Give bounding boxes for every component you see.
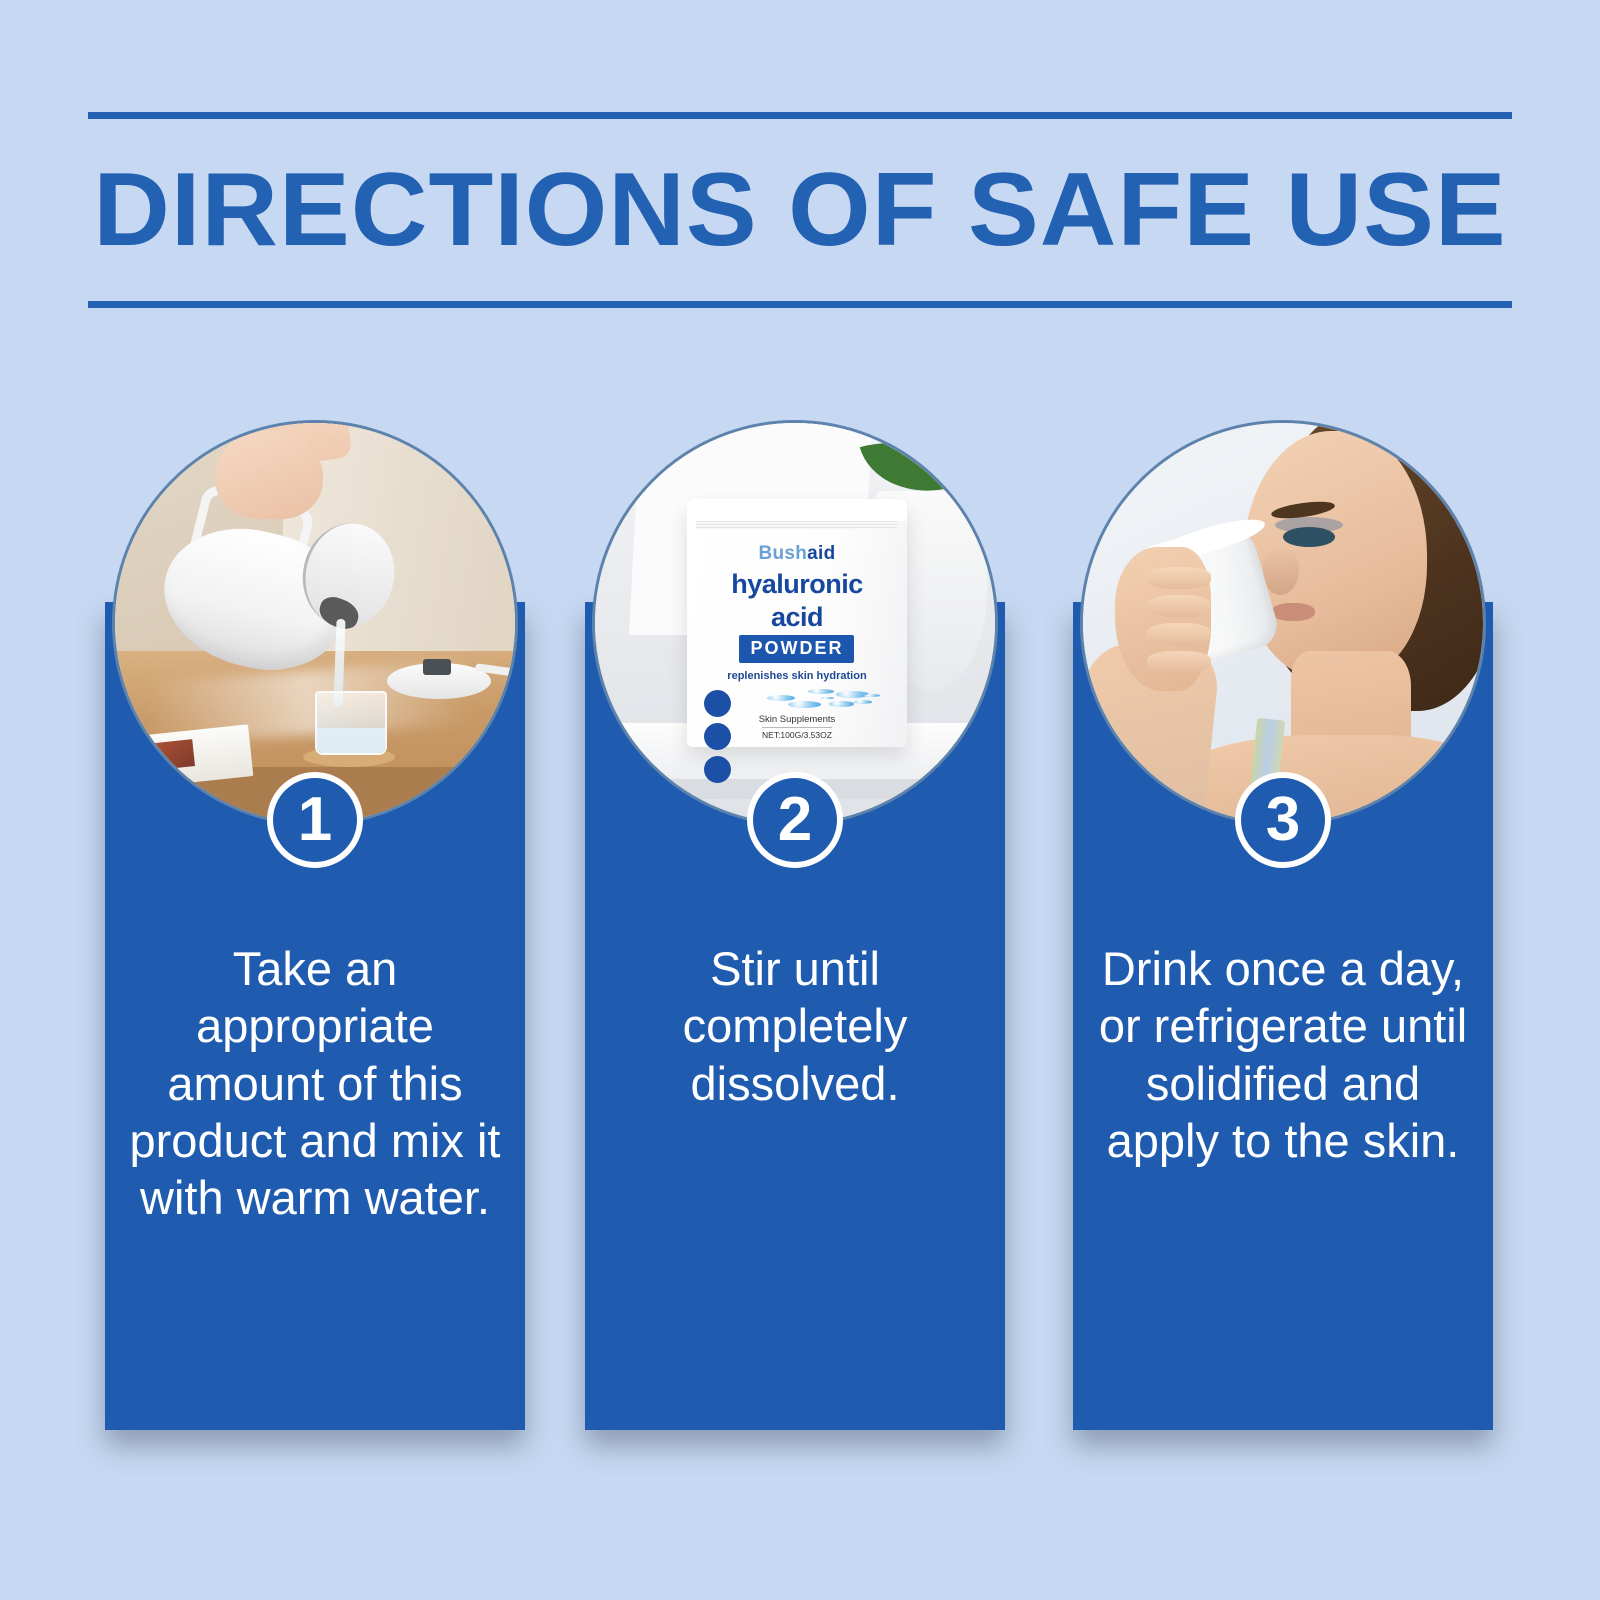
pouch-zipper [696, 521, 898, 528]
step-number-badge-2: 2 [747, 772, 843, 868]
product-pouch: Bushaid hyaluronic acid POWDER replenish… [687, 499, 907, 747]
book-cover-image [133, 739, 195, 772]
woman-drinking-scene [1083, 423, 1483, 823]
brand-logo-part-1: Bush [758, 543, 807, 564]
product-net-weight: NET:100G/3.53OZ [762, 727, 832, 740]
step-1-photo [112, 420, 518, 826]
brand-logo: Bushaid [758, 543, 835, 565]
bubble-6 [829, 701, 855, 707]
product-name-line-1: hyaluronic [731, 571, 863, 598]
step-card-2: Bushaid hyaluronic acid POWDER replenish… [585, 420, 1005, 1430]
hand [215, 431, 323, 519]
brand-logo-part-2: aid [807, 543, 835, 564]
kettle-base-knob [423, 659, 451, 675]
step-caption-1: Take an appropriate amount of this produ… [121, 940, 509, 1227]
pouch-top [687, 499, 907, 521]
finger-2 [1147, 595, 1211, 617]
finger-1 [1147, 567, 1211, 589]
lips [1271, 603, 1315, 621]
glass-mug [315, 691, 387, 755]
kettle-pouring-scene [115, 423, 515, 823]
benefit-badge-1 [704, 690, 731, 717]
eye [1283, 527, 1335, 547]
bubble-3 [864, 694, 879, 697]
benefit-badge-3 [704, 756, 731, 783]
benefit-badges [704, 690, 731, 789]
step-3-photo [1080, 420, 1486, 826]
product-name-line-2: acid [771, 604, 823, 631]
bubble-8 [821, 697, 834, 700]
bubble-7 [854, 700, 872, 704]
product-tagline: replenishes skin hydration [727, 670, 866, 682]
step-caption-3: Drink once a day, or refrigerate until s… [1089, 940, 1477, 1169]
step-2-photo: Bushaid hyaluronic acid POWDER replenish… [592, 420, 998, 826]
steps-container: 1 Take an appropriate amount of this pro… [0, 0, 1600, 1600]
pouch-label: Bushaid hyaluronic acid POWDER replenish… [700, 541, 894, 739]
bubble-5 [788, 701, 821, 708]
bubble-4 [767, 695, 795, 701]
step-card-1: 1 Take an appropriate amount of this pro… [105, 420, 525, 1430]
product-category: Skin Supplements [759, 714, 836, 725]
bubble-1 [808, 689, 834, 695]
step-caption-2: Stir until completely dissolved. [601, 940, 989, 1112]
product-form-badge: POWDER [739, 635, 854, 663]
water-molecule-graphic [762, 688, 890, 709]
benefit-badge-2 [704, 723, 731, 750]
finger-4 [1147, 651, 1211, 673]
finger-3 [1147, 623, 1211, 645]
step-number-badge-1: 1 [267, 772, 363, 868]
step-number-badge-3: 3 [1235, 772, 1331, 868]
label-graphics-row [700, 688, 894, 709]
glass-water [317, 728, 385, 753]
product-pouch-scene: Bushaid hyaluronic acid POWDER replenish… [595, 423, 995, 823]
step-card-3: 3 Drink once a day, or refrigerate until… [1073, 420, 1493, 1430]
